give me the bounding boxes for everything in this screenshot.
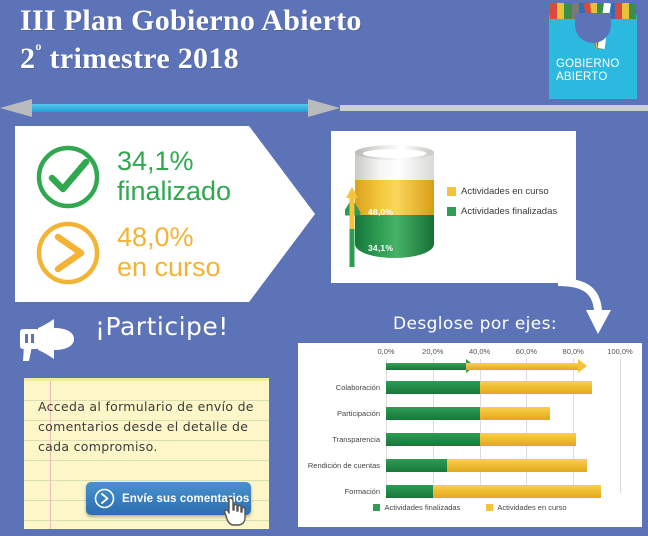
breakdown-title: Desglose por ejes:	[393, 314, 557, 334]
bar-segment-en-curso	[480, 407, 550, 420]
cylinder-label-en-curso: 48,0%	[368, 207, 393, 217]
chevron-right-circle-icon	[33, 218, 103, 288]
cylinder-top-ellipse	[355, 145, 434, 160]
table-row	[386, 381, 592, 394]
megaphone-icon	[14, 316, 88, 362]
legend-label-finalizadas: Actividades finalizadas	[461, 206, 557, 217]
table-row	[386, 433, 576, 446]
logo-flag-stripe	[615, 3, 622, 19]
summary-chevron-panel: 34,1% finalizado 48,0% en curso	[15, 126, 315, 302]
cylinder-top-inner	[363, 149, 426, 158]
overall-arrowhead-en-curso	[578, 359, 587, 373]
gridline	[573, 359, 574, 493]
bar-segment-finalizadas	[386, 381, 480, 394]
legend-item: Actividades finalizadas	[373, 503, 460, 512]
bar-segment-finalizadas	[386, 407, 480, 420]
cylinder-indicator-arrows	[345, 179, 365, 269]
en-curso-percent: 48,0%	[117, 224, 221, 252]
breakdown-chart-panel: 0,0%20,0%40,0%60,0%80,0%100,0%Colaboraci…	[298, 343, 642, 527]
breakdown-legend: Actividades finalizadasActividades en cu…	[298, 503, 642, 512]
divider-tail	[340, 105, 648, 111]
table-row	[386, 485, 601, 498]
bar-segment-en-curso	[480, 381, 592, 394]
overall-arrow-en-curso	[466, 363, 578, 370]
legend-swatch-en-curso	[447, 187, 456, 196]
page-title: III Plan Gobierno Abierto 2º trimestre 2…	[20, 2, 540, 79]
legend-label-en-curso: Actividades en curso	[461, 186, 549, 197]
category-label: Transparencia	[332, 435, 380, 444]
legend-swatch	[373, 504, 380, 511]
cylinder-segment-en-curso	[355, 180, 434, 215]
table-row	[386, 459, 587, 472]
title-line-1: III Plan Gobierno Abierto	[20, 4, 362, 37]
legend-item: Actividades finalizadas	[447, 206, 557, 217]
breakdown-plot: 0,0%20,0%40,0%60,0%80,0%100,0%Colaboraci…	[298, 343, 642, 527]
curved-arrow-down-icon	[556, 276, 618, 338]
summary-en-curso-text: 48,0% en curso	[117, 224, 221, 282]
gridline	[386, 359, 387, 493]
hand-cursor-icon	[222, 496, 248, 526]
logo-flag-stripe	[622, 3, 629, 19]
summary-finalizado-text: 34,1% finalizado	[117, 148, 231, 206]
bar-segment-finalizadas	[386, 459, 447, 472]
divider-arrowhead-left	[0, 99, 32, 117]
gobierno-abierto-logo: GOBIERNO ABIERTO	[549, 3, 637, 99]
x-axis-tick-label: 80,0%	[563, 347, 584, 356]
note-text: Acceda al formulario de envío de comenta…	[38, 397, 256, 457]
bar-segment-en-curso	[447, 459, 587, 472]
double-arrow-divider	[0, 99, 648, 117]
legend-item: Actividades en curso	[486, 503, 566, 512]
finalizado-label: finalizado	[117, 176, 231, 206]
x-axis-tick-label: 60,0%	[516, 347, 537, 356]
cylinder-segment-finalizadas	[355, 215, 434, 258]
cylinder-body	[355, 152, 434, 258]
x-axis-tick-label: 40,0%	[469, 347, 490, 356]
finalizado-percent: 34,1%	[117, 148, 231, 176]
x-axis-tick-label: 0,0%	[377, 347, 394, 356]
table-row	[386, 407, 550, 420]
gridline	[620, 359, 621, 493]
bar-segment-en-curso	[433, 485, 601, 498]
logo-flag-stripe	[564, 3, 571, 19]
x-axis-tick-label: 20,0%	[422, 347, 443, 356]
cylinder-chart: 48,0% 34,1%	[355, 145, 434, 265]
overall-arrow-finalizadas	[386, 363, 466, 370]
divider-bar	[30, 104, 310, 112]
chevron-right-circle-icon	[94, 488, 115, 509]
title-line-2: 2º trimestre 2018	[20, 40, 540, 78]
legend-swatch	[486, 504, 493, 511]
legend-swatch-finalizadas	[447, 207, 456, 216]
cylinder-label-finalizadas: 34,1%	[368, 243, 393, 253]
category-label: Rendición de cuentas	[308, 461, 380, 470]
category-label: Participación	[337, 409, 380, 418]
gridline	[433, 359, 434, 493]
check-circle-icon	[33, 142, 103, 212]
infographic-root: III Plan Gobierno Abierto 2º trimestre 2…	[0, 0, 648, 536]
category-label: Formación	[345, 487, 380, 496]
legend-label: Actividades finalizadas	[384, 503, 460, 512]
en-curso-label: en curso	[117, 252, 221, 282]
bar-segment-finalizadas	[386, 485, 433, 498]
gridline	[526, 359, 527, 493]
cylinder-chart-panel: 48,0% 34,1% Actividades en curso Activid…	[331, 131, 576, 283]
bar-segment-en-curso	[480, 433, 576, 446]
logo-flag-stripe	[629, 3, 636, 19]
participe-heading: ¡Participe!	[95, 312, 229, 341]
cylinder-legend: Actividades en curso Actividades finaliz…	[447, 186, 557, 226]
gridline	[480, 359, 481, 493]
divider-arrowhead-right	[308, 99, 340, 117]
legend-label: Actividades en curso	[497, 503, 566, 512]
x-axis-tick-label: 100,0%	[607, 347, 632, 356]
bar-segment-finalizadas	[386, 433, 480, 446]
logo-flag-stripe	[550, 3, 557, 19]
category-label: Colaboración	[336, 383, 380, 392]
summary-finalizado: 34,1% finalizado	[33, 142, 231, 212]
legend-item: Actividades en curso	[447, 186, 557, 197]
summary-en-curso: 48,0% en curso	[33, 218, 221, 288]
logo-text: GOBIERNO ABIERTO	[556, 58, 636, 84]
logo-flag-stripe	[557, 3, 564, 19]
